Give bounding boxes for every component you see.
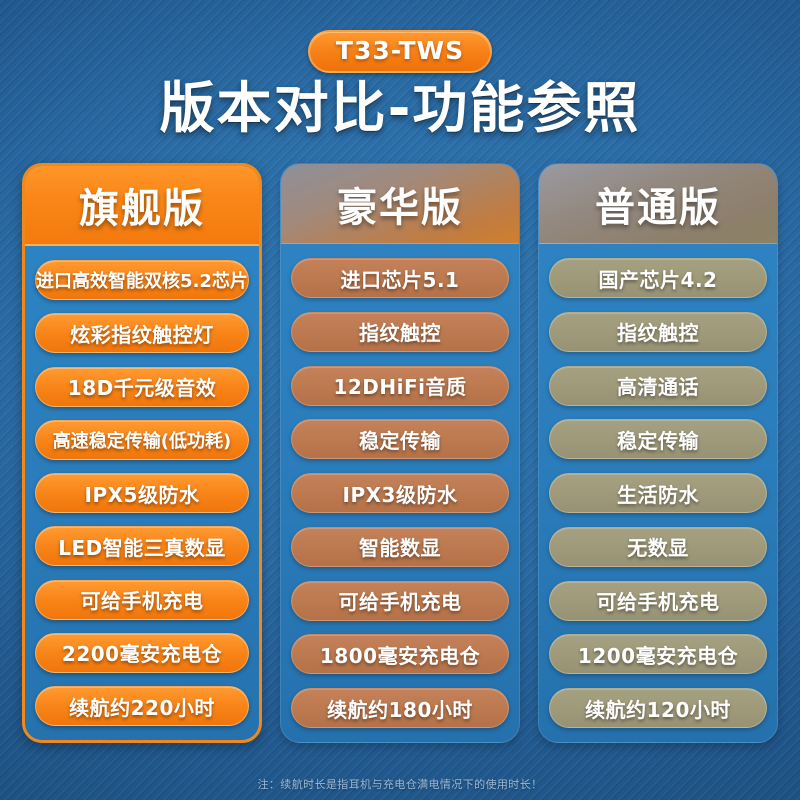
feature-pill: 可给手机充电: [291, 581, 509, 621]
feature-pill: 稳定传输: [549, 419, 767, 459]
feature-pill: 智能数显: [291, 527, 509, 567]
feature-pill: 进口芯片5.1: [291, 258, 509, 298]
column-basic-title: 普通版: [539, 164, 777, 244]
feature-pill: 1200毫安充电仓: [549, 634, 767, 674]
page-title: 版本对比-功能参照: [0, 78, 800, 139]
feature-pill: 生活防水: [549, 473, 767, 513]
column-flagship-features: 进口高效智能双核5.2芯片 炫彩指纹触控灯 18D千元级音效 高速稳定传输(低功…: [25, 246, 259, 740]
feature-pill: LED智能三真数显: [35, 526, 249, 566]
feature-pill: IPX5级防水: [35, 473, 249, 513]
product-badge-container: T33-TWS: [0, 30, 800, 73]
feature-pill: 12DHiFi音质: [291, 366, 509, 406]
feature-pill: 续航约180小时: [291, 688, 509, 728]
feature-pill: 高清通话: [549, 366, 767, 406]
column-basic-features: 国产芯片4.2 指纹触控 高清通话 稳定传输 生活防水 无数显 可给手机充电 1…: [539, 244, 777, 742]
feature-pill: 续航约120小时: [549, 688, 767, 728]
feature-pill: 炫彩指纹触控灯: [35, 313, 249, 353]
feature-pill: 指纹触控: [549, 312, 767, 352]
column-deluxe[interactable]: 豪华版 进口芯片5.1 指纹触控 12DHiFi音质 稳定传输 IPX3级防水 …: [280, 163, 520, 743]
product-model-badge: T33-TWS: [308, 30, 492, 73]
column-flagship-title: 旗舰版: [25, 166, 259, 246]
feature-pill: 可给手机充电: [35, 580, 249, 620]
feature-pill: 2200毫安充电仓: [35, 633, 249, 673]
feature-pill: 可给手机充电: [549, 581, 767, 621]
poster-canvas: T33-TWS 版本对比-功能参照 旗舰版 进口高效智能双核5.2芯片 炫彩指纹…: [0, 0, 800, 800]
feature-pill: 18D千元级音效: [35, 367, 249, 407]
feature-pill: 稳定传输: [291, 419, 509, 459]
feature-pill: 指纹触控: [291, 312, 509, 352]
comparison-columns: 旗舰版 进口高效智能双核5.2芯片 炫彩指纹触控灯 18D千元级音效 高速稳定传…: [22, 163, 778, 743]
feature-pill: 进口高效智能双核5.2芯片: [35, 260, 249, 300]
column-deluxe-features: 进口芯片5.1 指纹触控 12DHiFi音质 稳定传输 IPX3级防水 智能数显…: [281, 244, 519, 742]
feature-pill: 高速稳定传输(低功耗): [35, 420, 249, 460]
column-flagship[interactable]: 旗舰版 进口高效智能双核5.2芯片 炫彩指纹触控灯 18D千元级音效 高速稳定传…: [22, 163, 262, 743]
feature-pill: 国产芯片4.2: [549, 258, 767, 298]
feature-pill: 无数显: [549, 527, 767, 567]
column-basic[interactable]: 普通版 国产芯片4.2 指纹触控 高清通话 稳定传输 生活防水 无数显 可给手机…: [538, 163, 778, 743]
footnote-text: 注：续航时长是指耳机与充电仓满电情况下的使用时长！: [0, 776, 800, 792]
feature-pill: IPX3级防水: [291, 473, 509, 513]
column-deluxe-title: 豪华版: [281, 164, 519, 244]
feature-pill: 1800毫安充电仓: [291, 634, 509, 674]
feature-pill: 续航约220小时: [35, 686, 249, 726]
